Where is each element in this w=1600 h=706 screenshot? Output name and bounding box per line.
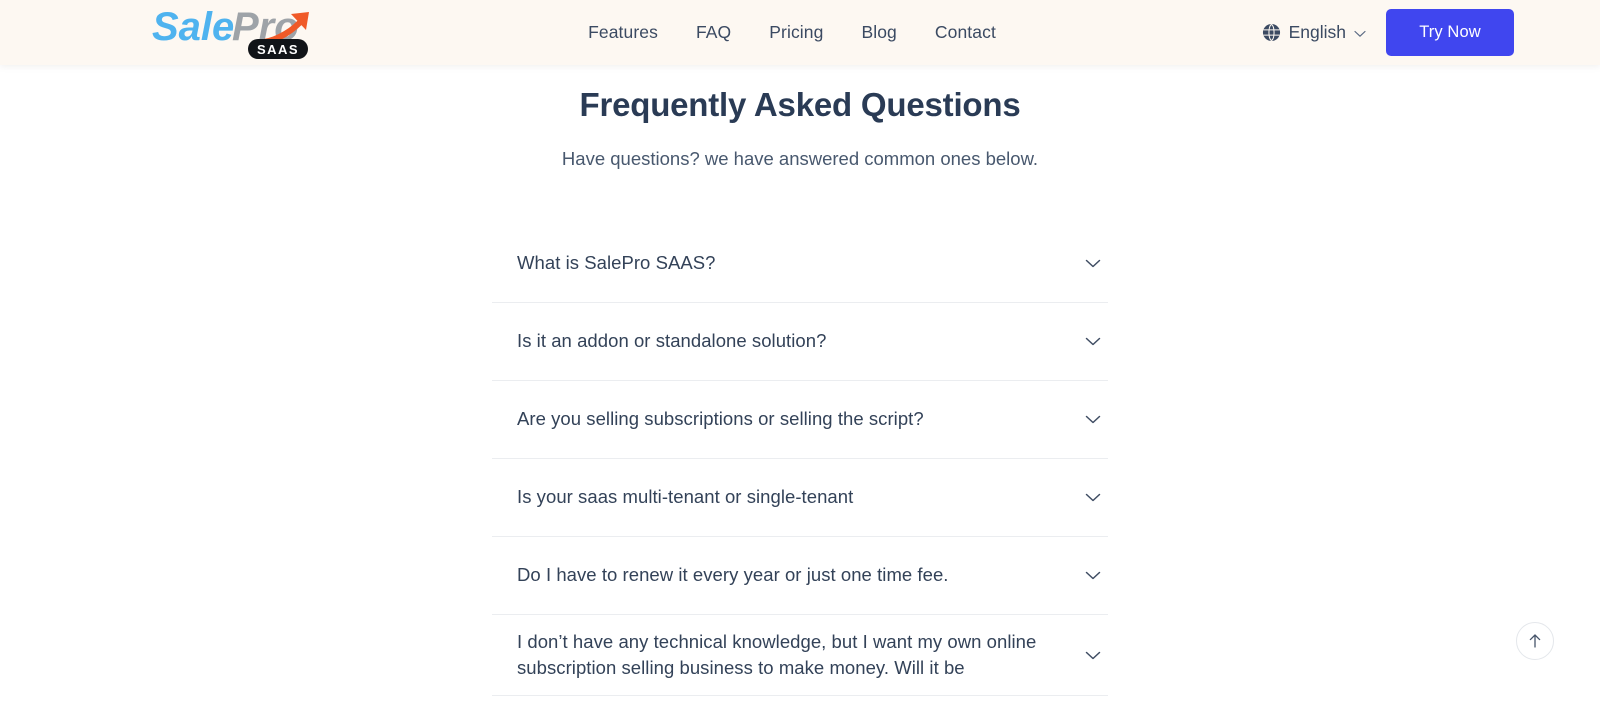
faq-page: Frequently Asked Questions Have question… [0,65,1600,706]
brand-logo[interactable]: Sale Pro SAAS [152,4,322,61]
arrow-up-icon [1527,633,1543,649]
nav-item-pricing[interactable]: Pricing [769,24,823,42]
faq-question: I don’t have any technical knowledge, bu… [517,629,1057,682]
page-title: Frequently Asked Questions [0,85,1600,125]
faq-question: What is SalePro SAAS? [517,250,715,276]
globe-icon [1262,23,1281,42]
faq-question: Do I have to renew it every year or just… [517,562,949,588]
nav-item-features[interactable]: Features [588,24,658,42]
chevron-down-icon[interactable] [1082,486,1104,508]
faq-accordion: What is SalePro SAAS? Is it an addon or … [492,225,1108,697]
faq-item-3[interactable]: Is your saas multi-tenant or single-tena… [492,459,1108,537]
faq-item-4[interactable]: Do I have to renew it every year or just… [492,537,1108,615]
faq-item-0[interactable]: What is SalePro SAAS? [492,225,1108,303]
chevron-down-icon[interactable] [1082,252,1104,274]
faq-question: Is it an addon or standalone solution? [517,328,826,354]
chevron-down-icon[interactable] [1082,330,1104,352]
faq-item-2[interactable]: Are you selling subscriptions or selling… [492,381,1108,459]
try-now-button[interactable]: Try Now [1386,9,1514,56]
svg-text:SAAS: SAAS [257,42,299,57]
page-subtitle: Have questions? we have answered common … [0,147,1600,171]
faq-question: Are you selling subscriptions or selling… [517,406,924,432]
nav-item-blog[interactable]: Blog [861,24,896,42]
chevron-down-icon[interactable] [1082,564,1104,586]
svg-text:Sale: Sale [152,5,234,49]
site-header: Sale Pro SAAS Features FAQ Pricing Blog … [0,0,1600,65]
scroll-to-top-button[interactable] [1516,622,1554,660]
logo-icon: Sale Pro SAAS [152,4,322,61]
nav-item-contact[interactable]: Contact [935,24,996,42]
faq-item-5[interactable]: I don’t have any technical knowledge, bu… [492,615,1108,697]
chevron-down-icon[interactable] [1082,644,1104,666]
chevron-down-icon [1354,30,1366,38]
faq-question: Is your saas multi-tenant or single-tena… [517,484,853,510]
nav-item-faq[interactable]: FAQ [696,24,731,42]
language-selector[interactable]: English [1262,23,1366,42]
chevron-down-icon[interactable] [1082,408,1104,430]
header-right-cluster: English Try Now [1262,0,1600,65]
language-label: English [1289,24,1346,42]
faq-item-1[interactable]: Is it an addon or standalone solution? [492,303,1108,381]
